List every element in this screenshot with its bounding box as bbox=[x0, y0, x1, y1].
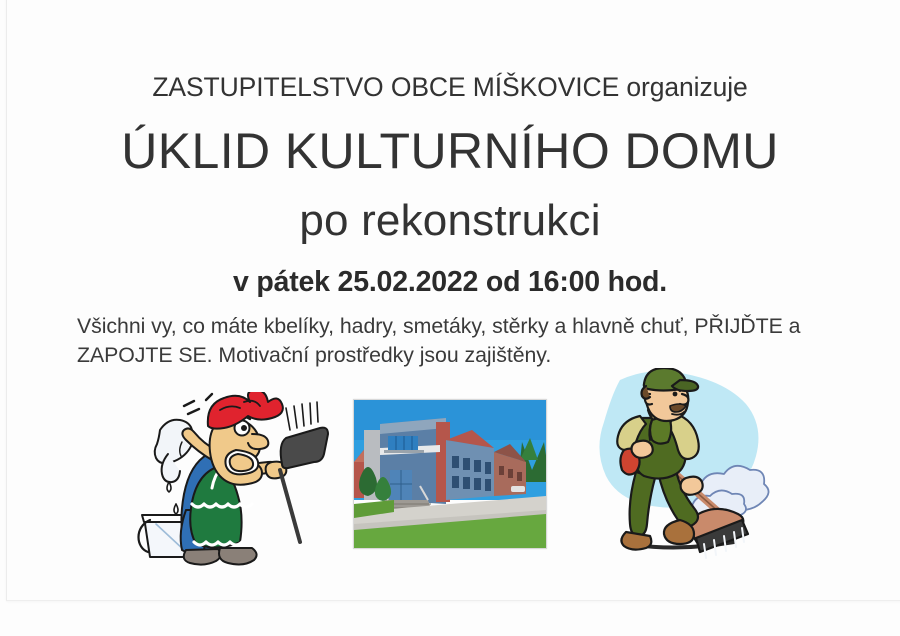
poster-page: ZASTUPITELSTVO OBCE MÍŠKOVICE organizuje… bbox=[0, 0, 900, 636]
culture-house-photo bbox=[353, 399, 547, 549]
cleaning-lady-illustration bbox=[124, 392, 329, 567]
sweeping-man-svg bbox=[596, 368, 786, 568]
sweeping-man-illustration bbox=[596, 368, 786, 568]
culture-house-photo-svg bbox=[354, 400, 546, 548]
illustration-row bbox=[0, 0, 900, 636]
cleaning-lady-svg bbox=[124, 392, 329, 567]
